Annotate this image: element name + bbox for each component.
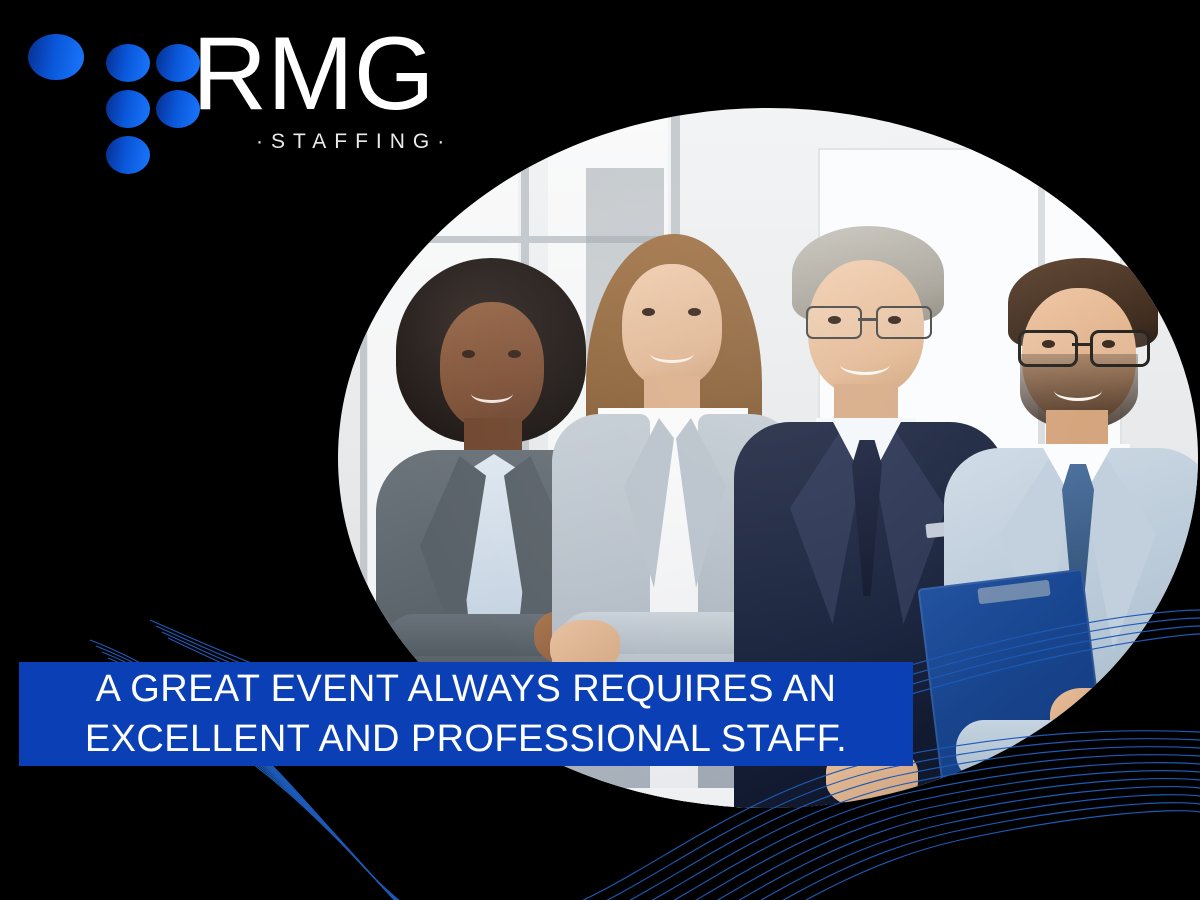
logo-dot <box>106 136 150 174</box>
face <box>440 302 544 430</box>
eye-left <box>1042 340 1055 348</box>
person-businessman-2 <box>938 258 1198 808</box>
eye-left <box>642 308 655 316</box>
eye-left <box>462 350 475 358</box>
headline-banner: A GREAT EVENT ALWAYS REQUIRES AN EXCELLE… <box>19 662 913 766</box>
headline-line-1: A GREAT EVENT ALWAYS REQUIRES AN <box>96 664 837 714</box>
logo-dot <box>28 34 84 80</box>
logo-dot <box>106 90 150 128</box>
logo-dots-icon <box>28 34 188 144</box>
logo-wordmark: RMG <box>192 22 435 126</box>
logo-dot <box>106 44 150 82</box>
eye-right <box>888 316 901 324</box>
logo-tagline: ·STAFFING· <box>256 130 452 154</box>
mouth <box>1054 380 1102 401</box>
eye-right <box>688 308 701 316</box>
eye-left <box>828 316 841 324</box>
eye-right <box>1102 340 1115 348</box>
face <box>622 264 722 388</box>
eye-right <box>508 350 521 358</box>
wristwatch <box>1050 728 1068 766</box>
eyeglasses <box>1016 330 1144 362</box>
mouth <box>650 344 694 363</box>
mouth <box>840 354 890 375</box>
eyeglasses <box>804 306 930 336</box>
mouth <box>471 384 513 403</box>
headline-line-2: EXCELLENT AND PROFESSIONAL STAFF. <box>85 714 847 764</box>
poster-canvas: A GREAT EVENT ALWAYS REQUIRES AN EXCELLE… <box>0 0 1200 900</box>
